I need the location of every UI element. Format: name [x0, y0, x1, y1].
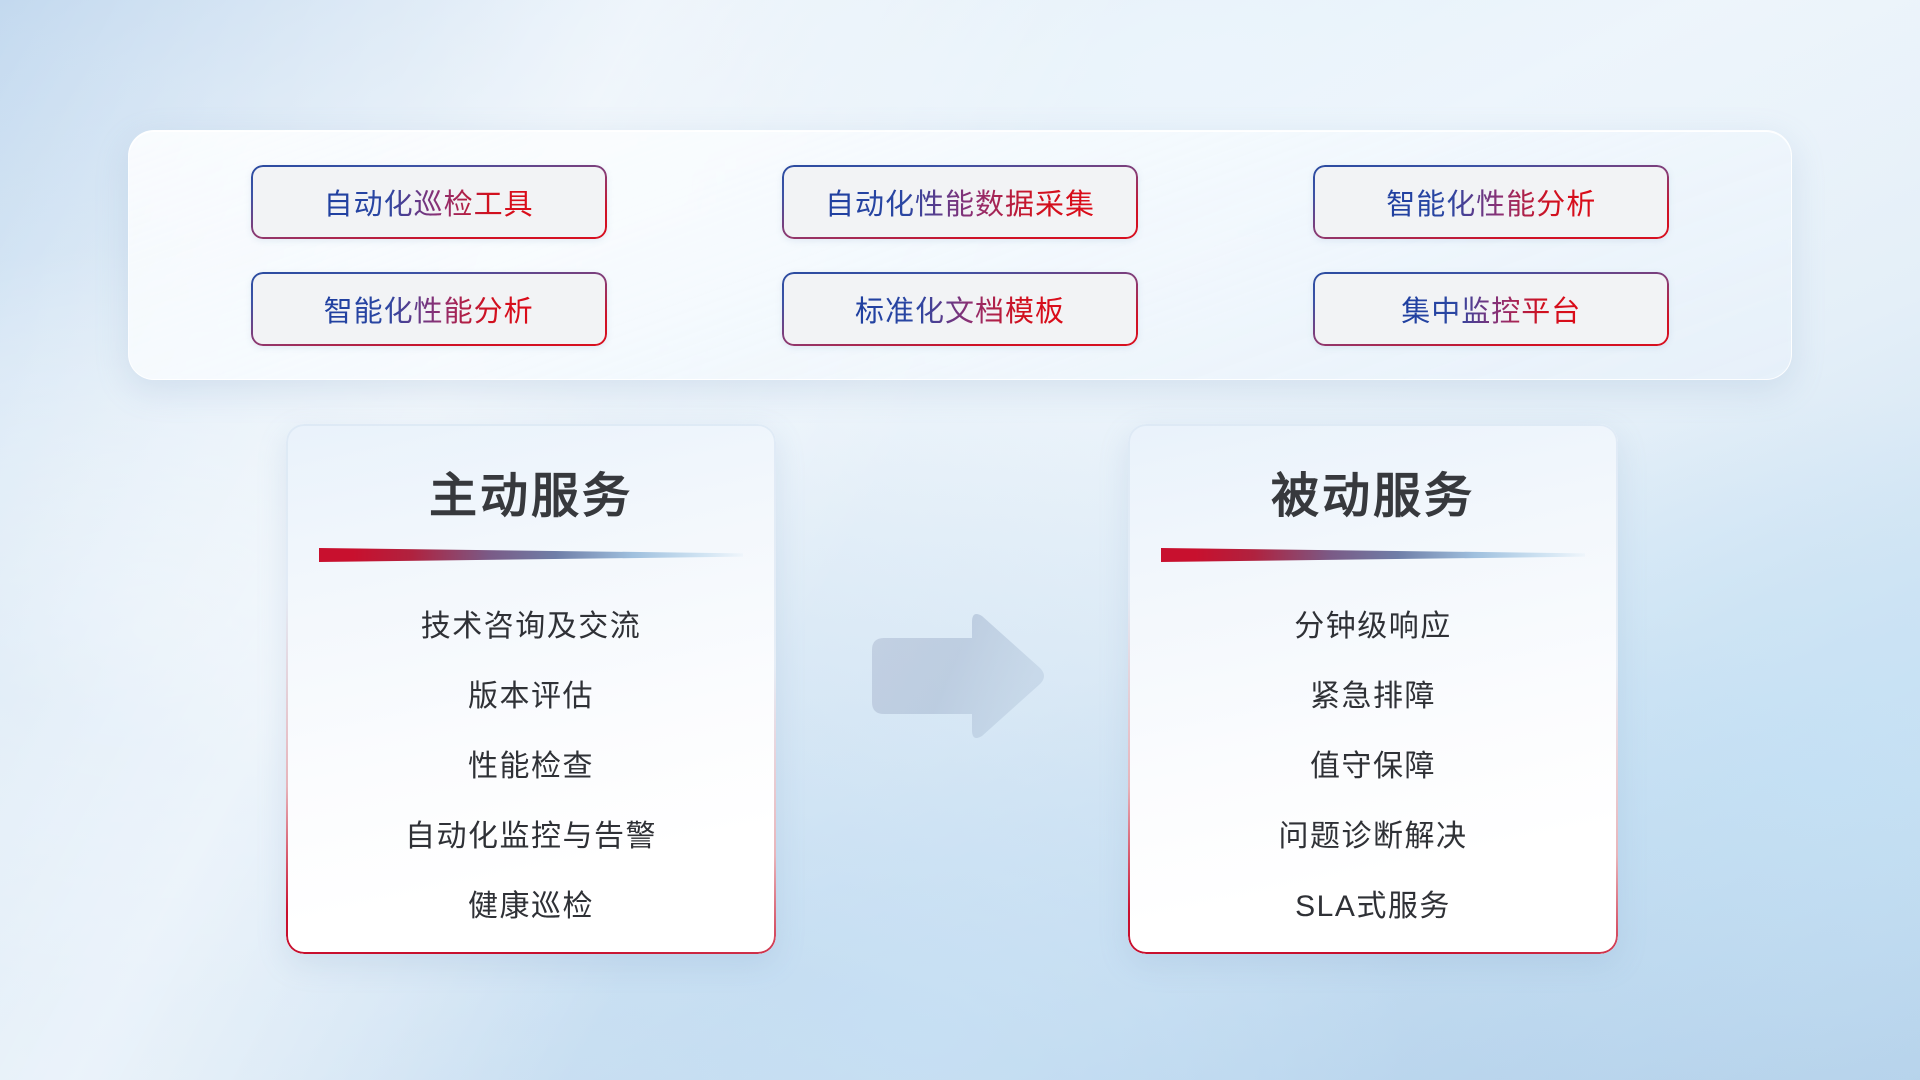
- service-item: SLA式服务: [1128, 872, 1618, 942]
- capability-chip-1[interactable]: 自动化巡检工具: [251, 165, 607, 239]
- service-item-list: 分钟级响应 紧急排障 值守保障 问题诊断解决 SLA式服务: [1128, 592, 1618, 942]
- service-item: 健康巡检: [286, 872, 776, 942]
- capability-chip-3[interactable]: 智能化性能分析: [1313, 165, 1669, 239]
- capability-chip-4[interactable]: 智能化性能分析: [251, 272, 607, 346]
- service-item: 问题诊断解决: [1128, 802, 1618, 872]
- capability-grid: 自动化巡检工具 自动化性能数据采集 智能化性能分析 智能化性能分析 标准化文档模…: [129, 131, 1791, 379]
- service-item: 自动化监控与告警: [286, 802, 776, 872]
- capability-panel: 自动化巡检工具 自动化性能数据采集 智能化性能分析 智能化性能分析 标准化文档模…: [128, 130, 1792, 380]
- capability-chip-2[interactable]: 自动化性能数据采集: [782, 165, 1138, 239]
- capability-chip-label: 自动化性能数据采集: [825, 181, 1095, 223]
- capability-chip-label: 标准化文档模板: [855, 288, 1065, 330]
- service-item: 性能检查: [286, 732, 776, 802]
- service-card-reactive: 被动服务 分钟级响应 紧急排障 值守保障 问题诊断解决 SLA式服务: [1128, 424, 1618, 954]
- service-item-list: 技术咨询及交流 版本评估 性能检查 自动化监控与告警 健康巡检: [286, 592, 776, 942]
- service-item: 分钟级响应: [1128, 592, 1618, 662]
- capability-chip-label: 智能化性能分析: [1386, 181, 1596, 223]
- service-item: 技术咨询及交流: [286, 592, 776, 662]
- capability-chip-5[interactable]: 标准化文档模板: [782, 272, 1138, 346]
- card-title: 被动服务: [1128, 456, 1618, 526]
- capability-chip-6[interactable]: 集中监控平台: [1313, 272, 1669, 346]
- card-title-divider: [319, 548, 743, 562]
- capability-chip-label: 自动化巡检工具: [324, 181, 534, 223]
- service-item: 版本评估: [286, 662, 776, 732]
- card-title-divider: [1161, 548, 1585, 562]
- service-card-proactive: 主动服务 技术咨询及交流 版本评估 性能检查 自动化监控与告警 健康巡检: [286, 424, 776, 954]
- capability-chip-label: 智能化性能分析: [324, 288, 534, 330]
- card-title: 主动服务: [286, 456, 776, 526]
- service-item: 紧急排障: [1128, 662, 1618, 732]
- capability-chip-label: 集中监控平台: [1401, 288, 1581, 330]
- service-item: 值守保障: [1128, 732, 1618, 802]
